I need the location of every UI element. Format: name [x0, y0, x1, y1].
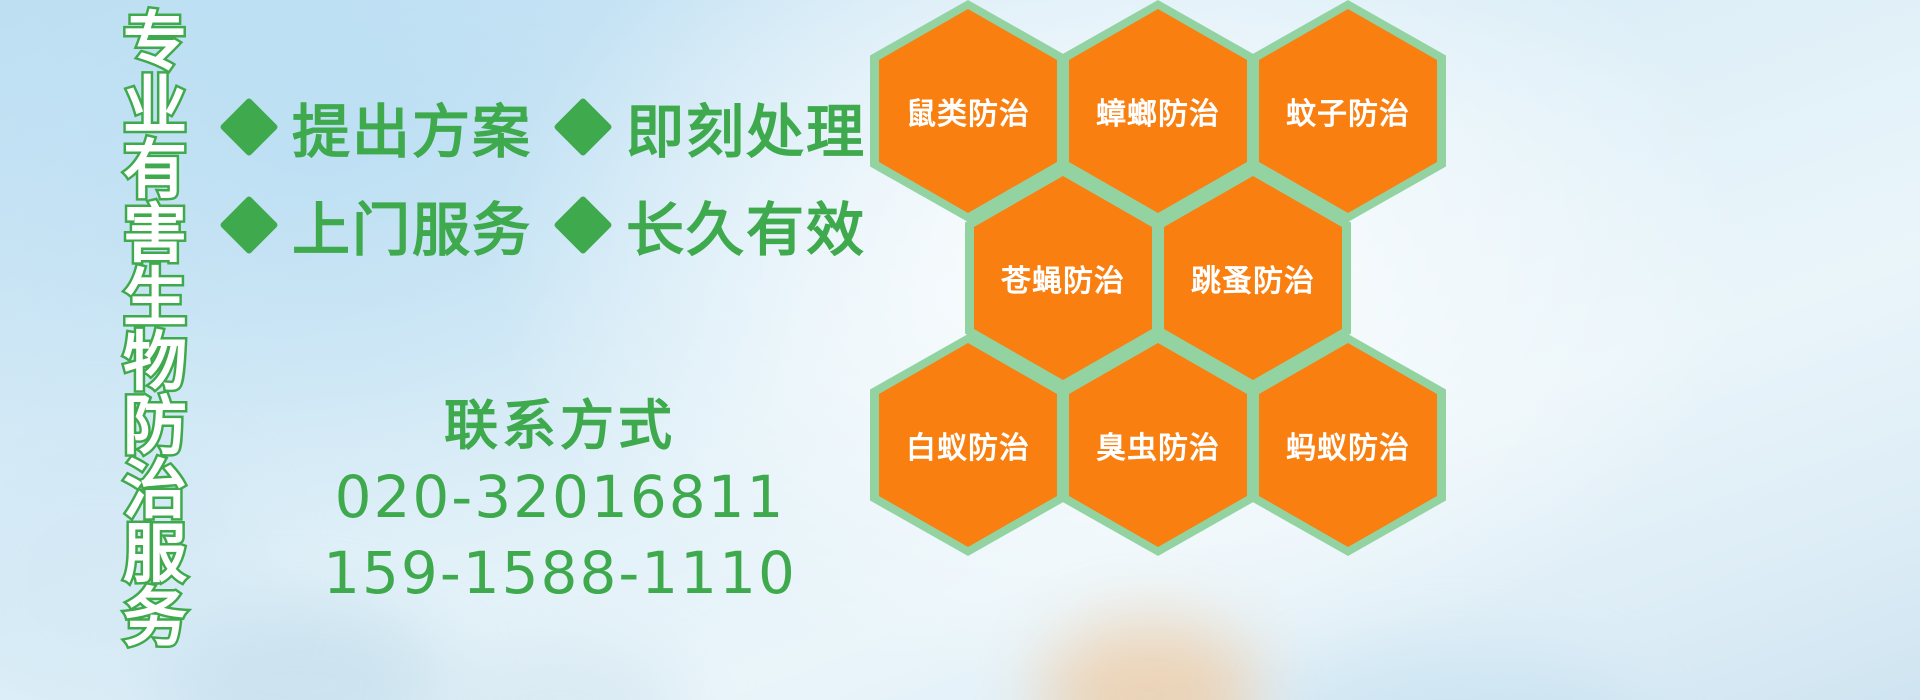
background-blob	[1040, 620, 1260, 700]
feature-item: 长久有效	[562, 183, 866, 267]
vertical-title-char: 防	[123, 394, 187, 458]
feature-list: 提出方案 即刻处理 上门服务 长久有效	[228, 78, 868, 274]
pest-control-banner: 专 业 有 害 生 物 防 治 服 务 提出方案 即刻处理 上门服务	[0, 0, 1920, 700]
background-blob	[1280, 650, 1640, 700]
vertical-title-char: 治	[123, 458, 187, 522]
feature-label: 上门服务	[292, 183, 532, 267]
diamond-icon	[553, 195, 612, 254]
diamond-icon	[219, 97, 278, 156]
feature-label: 提出方案	[292, 85, 532, 169]
vertical-title-char: 害	[123, 202, 187, 266]
contact-phone-landline[interactable]: 020-32016811	[300, 459, 820, 536]
contact-phone-mobile[interactable]: 159-1588-1110	[300, 535, 820, 612]
feature-item: 提出方案	[228, 85, 532, 169]
service-hex-label: 白蚁防治	[906, 423, 1030, 467]
service-hex-label: 蚂蚁防治	[1286, 423, 1410, 467]
diamond-icon	[219, 195, 278, 254]
background-blob	[150, 600, 450, 700]
vertical-title-char: 服	[123, 522, 187, 586]
feature-item: 即刻处理	[562, 85, 866, 169]
background-blob	[430, 640, 690, 700]
vertical-title-char: 生	[123, 266, 187, 330]
service-hex-label: 蚊子防治	[1286, 89, 1410, 133]
feature-item: 上门服务	[228, 183, 532, 267]
diamond-icon	[553, 97, 612, 156]
vertical-title-char: 务	[123, 586, 187, 650]
service-hex-label: 苍蝇防治	[1001, 256, 1125, 300]
service-hex-label: 鼠类防治	[906, 89, 1030, 133]
service-honeycomb: 鼠类防治 蟑螂防治 蚊子防治 苍蝇防治 跳蚤防治 白蚁防治 臭虫防治 蚂蚁防治	[862, 0, 1462, 552]
contact-block: 联系方式 020-32016811 159-1588-1110	[300, 395, 820, 612]
service-hex-label: 跳蚤防治	[1191, 256, 1315, 300]
vertical-title-char: 专	[123, 10, 187, 74]
vertical-title-char: 有	[123, 138, 187, 202]
feature-label: 即刻处理	[626, 85, 866, 169]
vertical-title: 专 业 有 害 生 物 防 治 服 务	[110, 10, 200, 555]
vertical-title-char: 物	[123, 330, 187, 394]
vertical-title-char: 业	[123, 74, 187, 138]
feature-row: 提出方案 即刻处理	[228, 78, 868, 176]
feature-row: 上门服务 长久有效	[228, 176, 868, 274]
feature-label: 长久有效	[626, 183, 866, 267]
contact-label: 联系方式	[300, 395, 820, 459]
service-hex-label: 蟑螂防治	[1096, 89, 1220, 133]
service-hex-label: 臭虫防治	[1096, 423, 1220, 467]
